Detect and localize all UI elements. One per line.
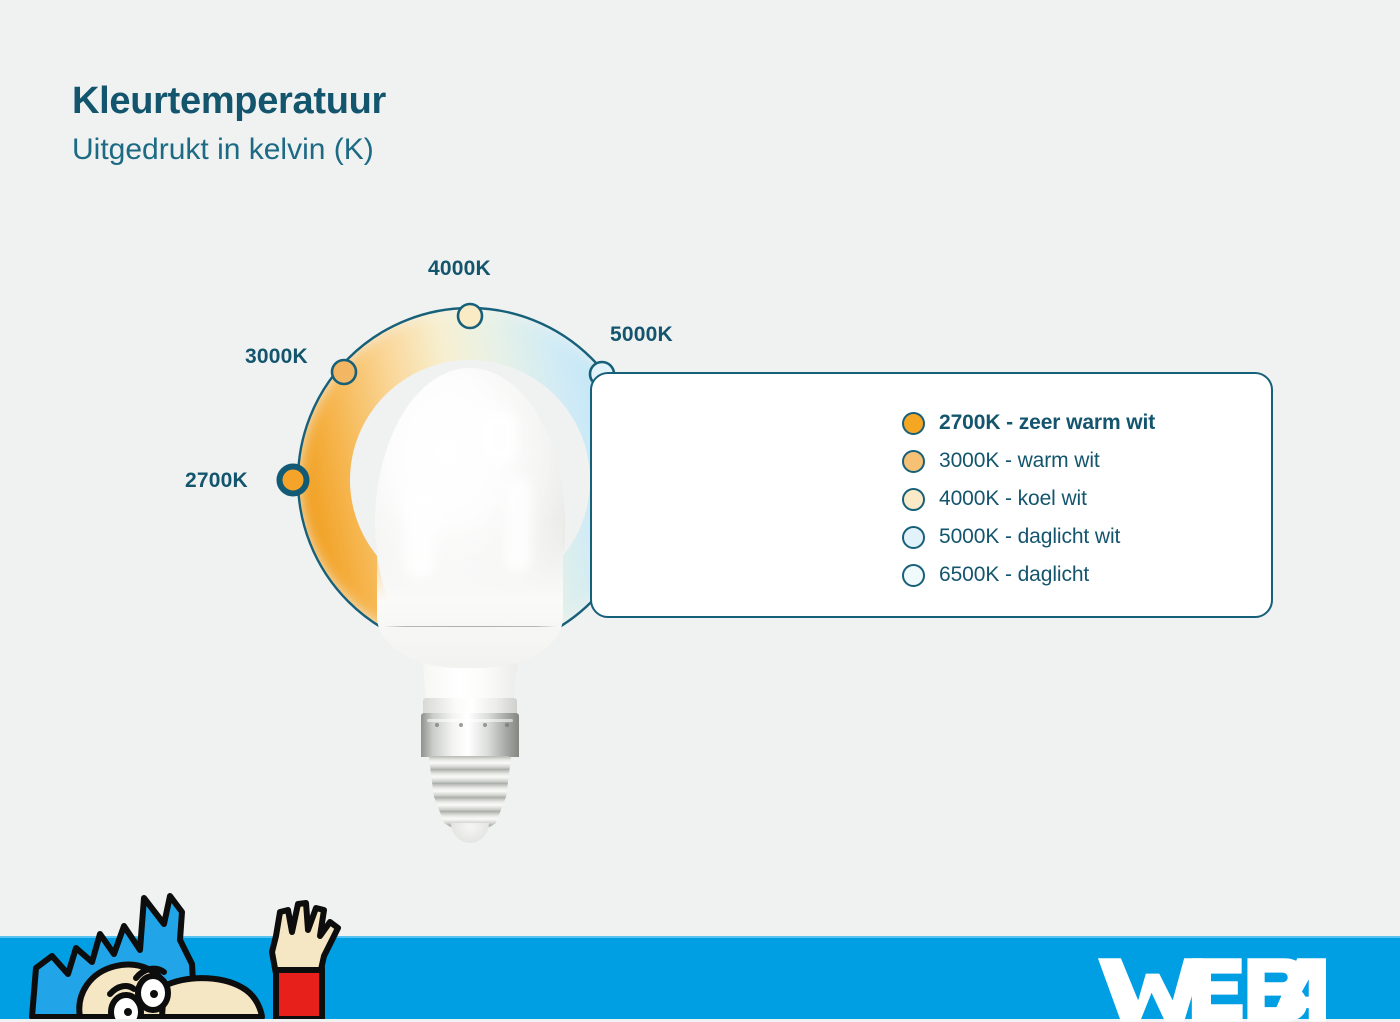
legend-item-2700k[interactable]: 2700K - zeer warm wit [902, 404, 1155, 442]
infographic-canvas: Kleurtemperatuur Uitgedrukt in kelvin (K… [0, 0, 1400, 1019]
legend-item-6500k[interactable]: 6500K - daglicht [902, 556, 1155, 594]
legend-dot-5000k [902, 526, 925, 549]
mascot-hand [272, 903, 338, 974]
legend-dot-2700k [902, 412, 925, 435]
legend-label-5000k: 5000K - daglicht wit [939, 525, 1120, 549]
ring-marker-2700k[interactable] [280, 467, 307, 494]
legend-dot-6500k [902, 564, 925, 587]
arc-label-5000k: 5000K [610, 323, 673, 347]
bulb-highlight-top [480, 413, 516, 461]
legend-label-6500k: 6500K - daglicht [939, 563, 1089, 587]
legend-dot-4000k [902, 488, 925, 511]
arc-label-2700k: 2700K [185, 469, 248, 493]
bulb-highlight-right [505, 478, 531, 573]
legend-dot-3000k [902, 450, 925, 473]
legend-label-3000k: 3000K - warm wit [939, 449, 1100, 473]
led-bulb-illustration [365, 368, 575, 843]
weba-logo [1096, 952, 1326, 1022]
bulb-highlight-left [405, 488, 435, 578]
legend-label-2700k: 2700K - zeer warm wit [939, 411, 1155, 435]
legend-item-3000k[interactable]: 3000K - warm wit [902, 442, 1155, 480]
bulb-seam-line [383, 626, 557, 627]
bulb-base-tip [451, 823, 489, 843]
ring-marker-4000k[interactable] [458, 304, 482, 328]
legend-panel: 2700K - zeer warm wit 3000K - warm wit 4… [590, 372, 1273, 618]
legend-item-5000k[interactable]: 5000K - daglicht wit [902, 518, 1155, 556]
ring-marker-3000k[interactable] [332, 360, 356, 384]
mascot-sleeve [276, 970, 322, 1019]
legend-label-4000k: 4000K - koel wit [939, 487, 1087, 511]
legend-item-4000k[interactable]: 4000K - koel wit [902, 480, 1155, 518]
mascot-nose [162, 978, 262, 1017]
legend-list: 2700K - zeer warm wit 3000K - warm wit 4… [902, 404, 1155, 594]
color-temperature-diagram: 2700K 3000K 4000K 5000K 6500K 2700K - ze… [0, 0, 1400, 1019]
arc-label-3000k: 3000K [245, 345, 308, 369]
bulb-metal-cap [421, 713, 519, 757]
weba-mascot [14, 890, 364, 1019]
arc-label-4000k: 4000K [428, 257, 491, 281]
